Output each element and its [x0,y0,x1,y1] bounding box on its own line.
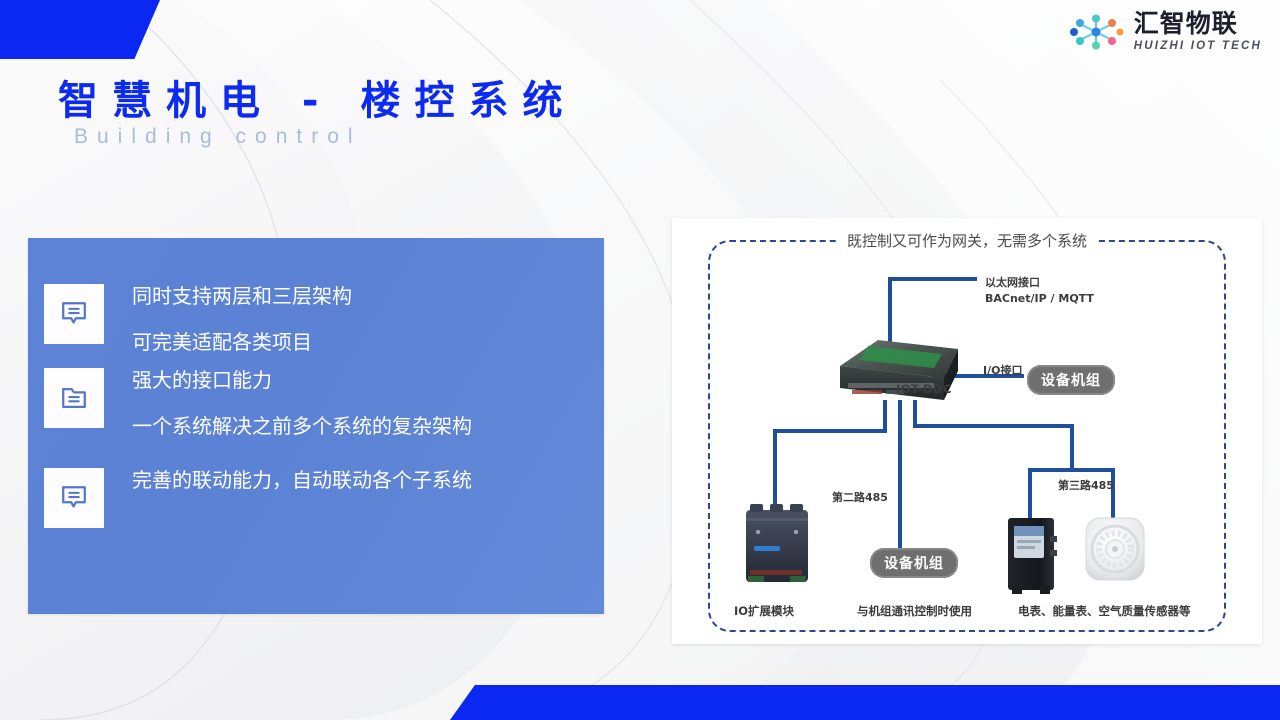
feature-text-group: 强大的接口能力 一个系统解决之前多个系统的复杂架构 [132,368,472,436]
feature-line: 同时支持两层和三层架构 [132,286,352,306]
feature-item: 强大的接口能力 一个系统解决之前多个系统的复杂架构 [44,368,592,436]
brand-logo: 汇智物联 HUIZHI IOT TECH [1068,12,1262,53]
corner-accent-top-left [0,0,160,59]
feature-text-group: 同时支持两层和三层架构 可完美适配各类项目 [132,284,352,352]
speech-bubble-icon [44,284,104,344]
molecule-network-icon [1068,12,1126,52]
io-port-label: I/O接口 [983,362,1022,378]
ethernet-label-line1: 以太网接口 [985,276,1040,289]
bus3-label: 第三路485 [1058,477,1114,493]
bus2-label: 第二路485 [832,489,888,505]
feature-list: 同时支持两层和三层架构 可完美适配各类项目 强大的接口能力 一个系统解决之前多个… [44,270,592,544]
feature-line: 可完美适配各类项目 [132,332,352,352]
corner-accent-bottom-right [450,685,1280,720]
folder-document-icon [44,368,104,428]
page-subtitle: Building control [74,125,362,149]
speech-bubble-icon [44,468,104,528]
equipment-unit-badge-top: 设备机组 [1027,365,1115,395]
feature-line: 完善的联动能力，自动联动各个子系统 [132,470,472,490]
ddc-device-label: IOT-DDC [896,382,952,396]
ethernet-port-label: 以太网接口 BACnet/IP / MQTT [985,275,1094,307]
io-module-caption: IO扩展模块 [734,603,794,619]
logo-text-en: HUIZHI IOT TECH [1134,41,1262,53]
feature-item: 完善的联动能力，自动联动各个子系统 [44,468,592,528]
feature-line: 一个系统解决之前多个系统的复杂架构 [132,416,472,436]
feature-text-group: 完善的联动能力，自动联动各个子系统 [132,468,472,490]
unit-note-caption: 与机组通讯控制时使用 [857,603,972,619]
feature-item: 同时支持两层和三层架构 可完美适配各类项目 [44,284,592,352]
ethernet-label-line2: BACnet/IP / MQTT [985,292,1094,305]
feature-panel: 同时支持两层和三层架构 可完美适配各类项目 强大的接口能力 一个系统解决之前多个… [28,238,604,614]
diagram-connections [672,218,1262,644]
meters-caption: 电表、能量表、空气质量传感器等 [1018,603,1191,619]
equipment-unit-badge-bottom: 设备机组 [870,548,958,578]
feature-line: 强大的接口能力 [132,370,472,390]
page-title: 智慧机电 - 楼控系统 [58,68,576,126]
architecture-diagram-card: 既控制又可作为网关，无需多个系统 [672,218,1262,644]
logo-text-cn: 汇智物联 [1134,12,1238,37]
